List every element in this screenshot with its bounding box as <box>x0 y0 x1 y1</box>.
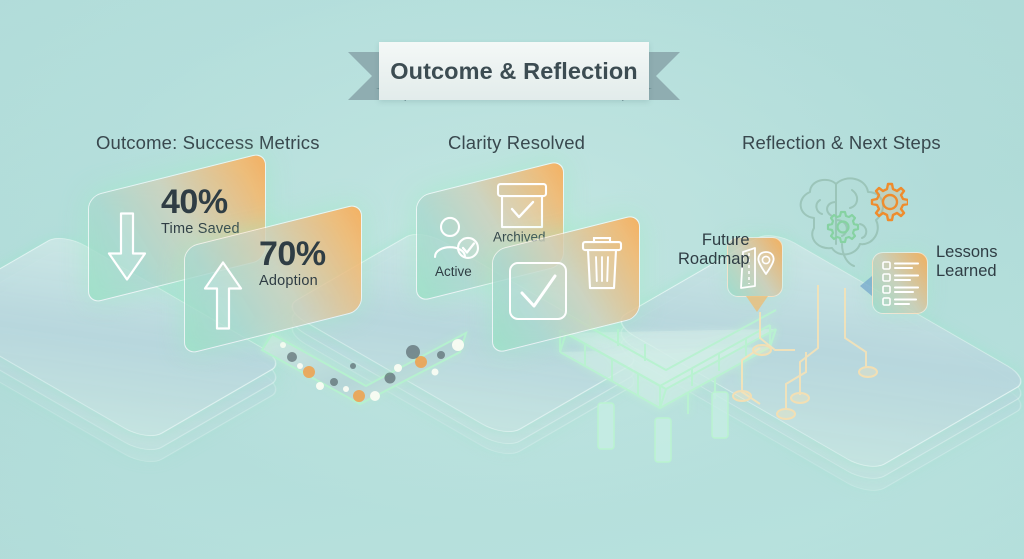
label-lessons-learned: Lessons Learned <box>936 243 997 282</box>
metric-value: 70% <box>259 237 326 271</box>
ribbon-band: Outcome & Reflection <box>379 42 649 100</box>
section-heading-outcome: Outcome: Success Metrics <box>96 132 320 154</box>
title-ribbon: Outcome & Reflection <box>348 42 680 102</box>
section-heading-reflection: Reflection & Next Steps <box>742 132 941 154</box>
lessons-card[interactable] <box>872 252 928 314</box>
illustration-canvas: Outcome & Reflection Outcome: Success Me… <box>0 0 1024 559</box>
metric-value: 40% <box>161 185 240 219</box>
label-lessons-learned-line1: Lessons <box>936 243 997 262</box>
metric-label: Time Saved <box>161 221 240 237</box>
label-future-roadmap: Future Roadmap <box>678 231 750 270</box>
label-lessons-learned-line2: Learned <box>936 262 997 281</box>
label-active: Active <box>435 264 472 279</box>
metric-label: Adoption <box>259 273 326 289</box>
section-heading-clarity: Clarity Resolved <box>448 132 585 154</box>
label-future-roadmap-line1: Future <box>678 231 750 250</box>
page-title: Outcome & Reflection <box>390 58 637 85</box>
checklist-icon <box>882 261 922 307</box>
metric-adoption: 70% Adoption <box>259 237 326 289</box>
label-future-roadmap-line2: Roadmap <box>678 250 750 269</box>
metric-time-saved: 40% Time Saved <box>161 185 240 237</box>
